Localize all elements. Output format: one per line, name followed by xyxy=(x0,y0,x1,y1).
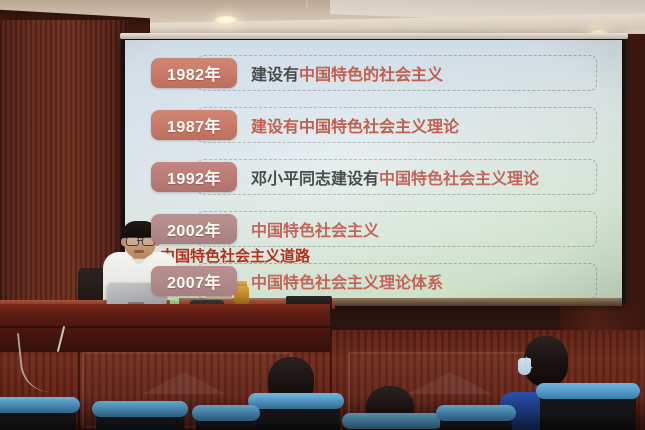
row-text-accent: 中国特色社会主义 xyxy=(251,221,379,240)
year-badge: 2007年 xyxy=(151,266,237,296)
year-badge: 1992年 xyxy=(151,162,237,192)
year-badge: 1982年 xyxy=(151,58,237,88)
slide-row: 1982年 建设有中国特色的社会主义 xyxy=(151,54,601,92)
face-mask-ear-loop xyxy=(525,355,534,369)
slide-row: 2007年 中国特色社会主义理论体系 xyxy=(151,262,601,300)
row-text-accent: 建设有中国特色社会主义理论 xyxy=(251,117,459,136)
chair-headrest xyxy=(192,405,260,421)
chair-headrest xyxy=(536,383,640,399)
wall-chevron-ornament xyxy=(142,372,226,394)
slide-row: 1992年 邓小平同志建设有中国特色社会主义理论 xyxy=(151,158,601,196)
audience-chair xyxy=(96,406,184,430)
projection-screen-roller xyxy=(120,33,628,39)
chair-headrest xyxy=(0,397,80,413)
row-text: 邓小平同志建设有中国特色社会主义理论 xyxy=(251,165,539,189)
audience-chair xyxy=(196,410,256,430)
clipped-slide-caption: 中国特色社会主义道路 xyxy=(160,248,390,264)
slide-row: 2002年 中国特色社会主义 xyxy=(151,210,601,248)
presenter-mouth xyxy=(134,250,144,253)
ceiling-wire xyxy=(306,0,308,9)
row-text: 建设有中国特色的社会主义 xyxy=(251,61,443,85)
desk-groove xyxy=(0,326,330,328)
audience-chair xyxy=(440,410,512,430)
row-text: 建设有中国特色社会主义理论 xyxy=(251,113,459,137)
chair-headrest xyxy=(342,413,442,429)
audience-chair xyxy=(540,388,636,430)
row-text: 中国特色社会主义 xyxy=(251,217,379,241)
lecture-hall-scene: 1982年 建设有中国特色的社会主义 1987年 建设有中国特色社会主义理论 1… xyxy=(0,0,645,430)
wall-chevron-ornament xyxy=(408,372,492,394)
slide-row: 1987年 建设有中国特色社会主义理论 xyxy=(151,106,601,144)
eyeglasses-icon xyxy=(126,237,139,246)
audience-chair xyxy=(346,418,438,430)
row-text-dark: 邓小平同志建设有 xyxy=(251,169,379,188)
chair-headrest xyxy=(436,405,516,421)
audience-chair xyxy=(0,402,76,430)
row-text-accent: 中国特色社会主义理论 xyxy=(379,169,539,188)
row-text-dark: 建设有 xyxy=(251,65,299,84)
eyeglasses-bridge xyxy=(137,240,142,241)
chair-headrest xyxy=(92,401,188,417)
chair-headrest xyxy=(248,393,344,409)
year-badge: 2002年 xyxy=(151,214,237,244)
year-badge: 1987年 xyxy=(151,110,237,140)
clipped-caption-text: 中国特色社会主义道路 xyxy=(160,248,390,264)
downlight-icon xyxy=(214,16,238,25)
row-text: 中国特色社会主义理论体系 xyxy=(251,269,443,293)
row-text-accent: 中国特色的社会主义 xyxy=(299,65,443,84)
row-text-accent: 中国特色社会主义理论体系 xyxy=(251,273,443,292)
audience-chair xyxy=(252,398,340,430)
